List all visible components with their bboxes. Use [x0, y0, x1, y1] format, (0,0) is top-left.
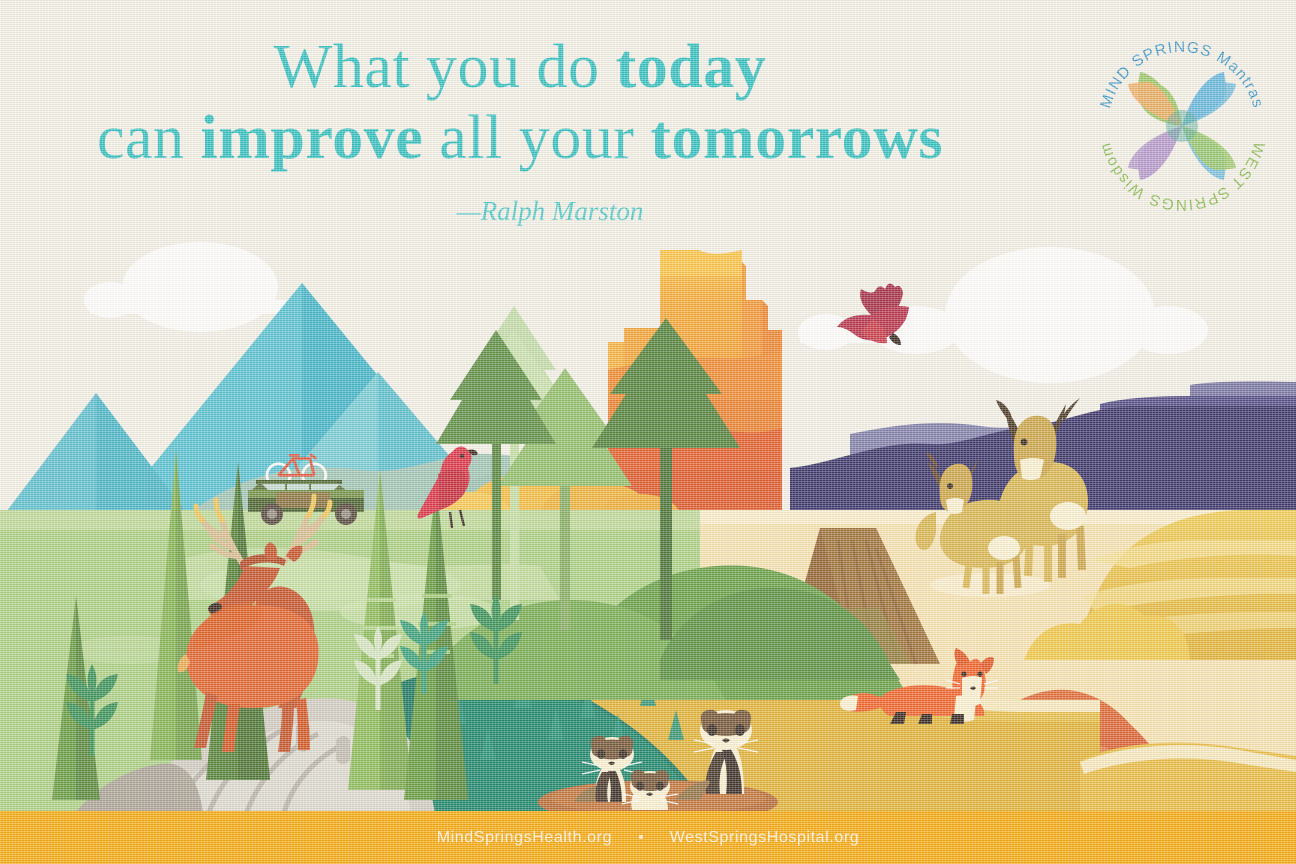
headline-line2-part3: all your: [423, 104, 650, 172]
headline-line1-part2: today: [616, 33, 767, 101]
quote-attribution: —Ralph Marston: [0, 196, 1040, 227]
footer-link-mindsprings[interactable]: MindSpringsHealth.org: [437, 829, 612, 847]
logo-svg: MIND SPRINGS Mantras WEST SPRINGS Wisdom: [1092, 36, 1272, 216]
headline-line2-part4: tomorrows: [650, 104, 943, 172]
headline-block: What you do today can improve all your t…: [0, 36, 1040, 227]
headline-line-2: can improve all your tomorrows: [0, 107, 1040, 170]
poster: What you do today can improve all your t…: [0, 0, 1296, 864]
footer-bar: MindSpringsHealth.org • WestSpringsHospi…: [0, 811, 1296, 864]
logo-text-top: MIND SPRINGS Mantras: [1097, 39, 1266, 111]
headline-line-1: What you do today: [0, 36, 1040, 99]
four-petal-flower-icon: [1128, 72, 1236, 180]
headline-line2-part1: can: [97, 104, 201, 172]
mind-springs-logo: MIND SPRINGS Mantras WEST SPRINGS Wisdom: [1092, 36, 1272, 216]
headline-line2-part2: improve: [201, 104, 424, 172]
logo-text-bottom: WEST SPRINGS Wisdom: [1097, 140, 1267, 213]
footer-link-westsprings[interactable]: WestSpringsHospital.org: [670, 829, 860, 847]
footer-separator: •: [638, 829, 644, 847]
headline-line1-part1: What you do: [274, 33, 616, 101]
